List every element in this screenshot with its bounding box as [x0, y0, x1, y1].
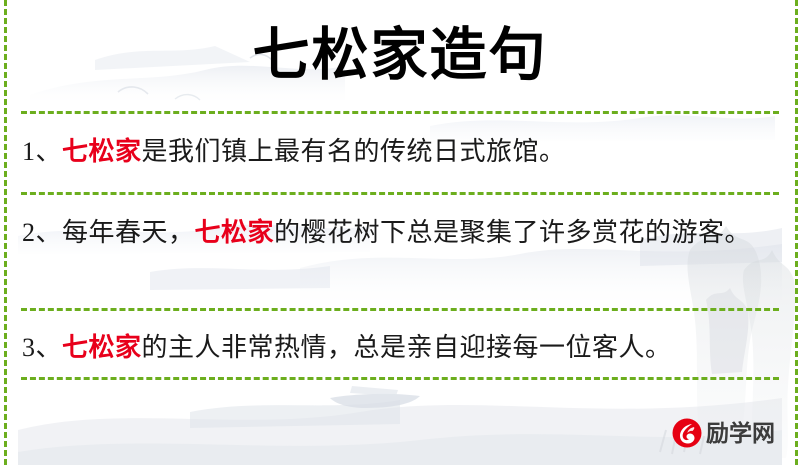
site-watermark-logo: 励学网 [672, 418, 775, 448]
sentence-item-1: 1、七松家是我们镇上最有名的传统日式旅馆。 [22, 131, 762, 173]
flame-swirl-icon [672, 418, 702, 448]
keyword-highlight: 七松家 [62, 137, 142, 166]
sentence-number-2: 2、 [22, 218, 62, 247]
worksheet-page: 七松家造句 1、七松家是我们镇上最有名的传统日式旅馆。 2、每年春天，七松家的樱… [0, 0, 800, 465]
divider-after-sentence-3 [21, 377, 779, 380]
site-watermark-label: 励学网 [706, 420, 775, 446]
divider-after-sentence-2 [21, 308, 779, 311]
sentence-number-1: 1、 [22, 137, 62, 166]
keyword-highlight: 七松家 [195, 218, 275, 247]
keyword-highlight: 七松家 [62, 333, 142, 362]
sentence-text: 的樱花树下总是聚集了许多赏花的游客。 [274, 218, 751, 247]
sentence-number-3: 3、 [22, 333, 62, 362]
sentence-item-3: 3、七松家的主人非常热情，总是亲自迎接每一位客人。 [22, 327, 762, 369]
sentence-item-2: 2、每年春天，七松家的樱花树下总是聚集了许多赏花的游客。 [22, 212, 762, 254]
page-title: 七松家造句 [0, 22, 800, 90]
divider-after-title [21, 111, 779, 114]
divider-after-sentence-1 [21, 192, 779, 195]
sentence-text: 的主人非常热情，总是亲自迎接每一位客人。 [142, 333, 672, 362]
sentence-text: 每年春天， [62, 218, 195, 247]
sentence-text: 是我们镇上最有名的传统日式旅馆。 [142, 137, 566, 166]
